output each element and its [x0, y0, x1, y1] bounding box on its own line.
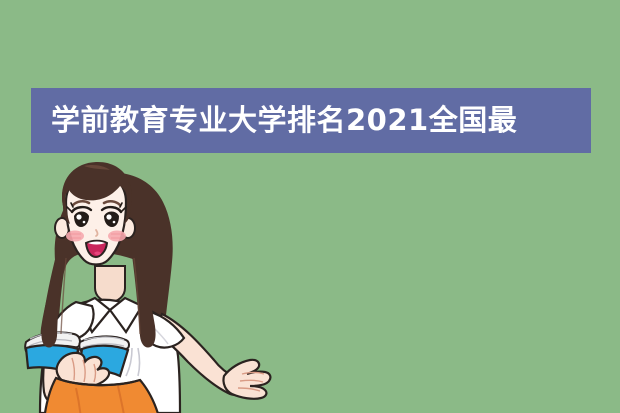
neck [95, 266, 125, 302]
hand-right-open-palm-icon [223, 360, 270, 399]
poster-canvas: 学前教育专业大学排名2021全国最 [0, 0, 620, 413]
page-title: 学前教育专业大学排名2021全国最 [31, 106, 517, 135]
student-illustration-svg [0, 150, 300, 413]
title-banner: 学前教育专业大学排名2021全国最 [31, 88, 591, 153]
illustration-female-student-with-book [0, 150, 300, 413]
